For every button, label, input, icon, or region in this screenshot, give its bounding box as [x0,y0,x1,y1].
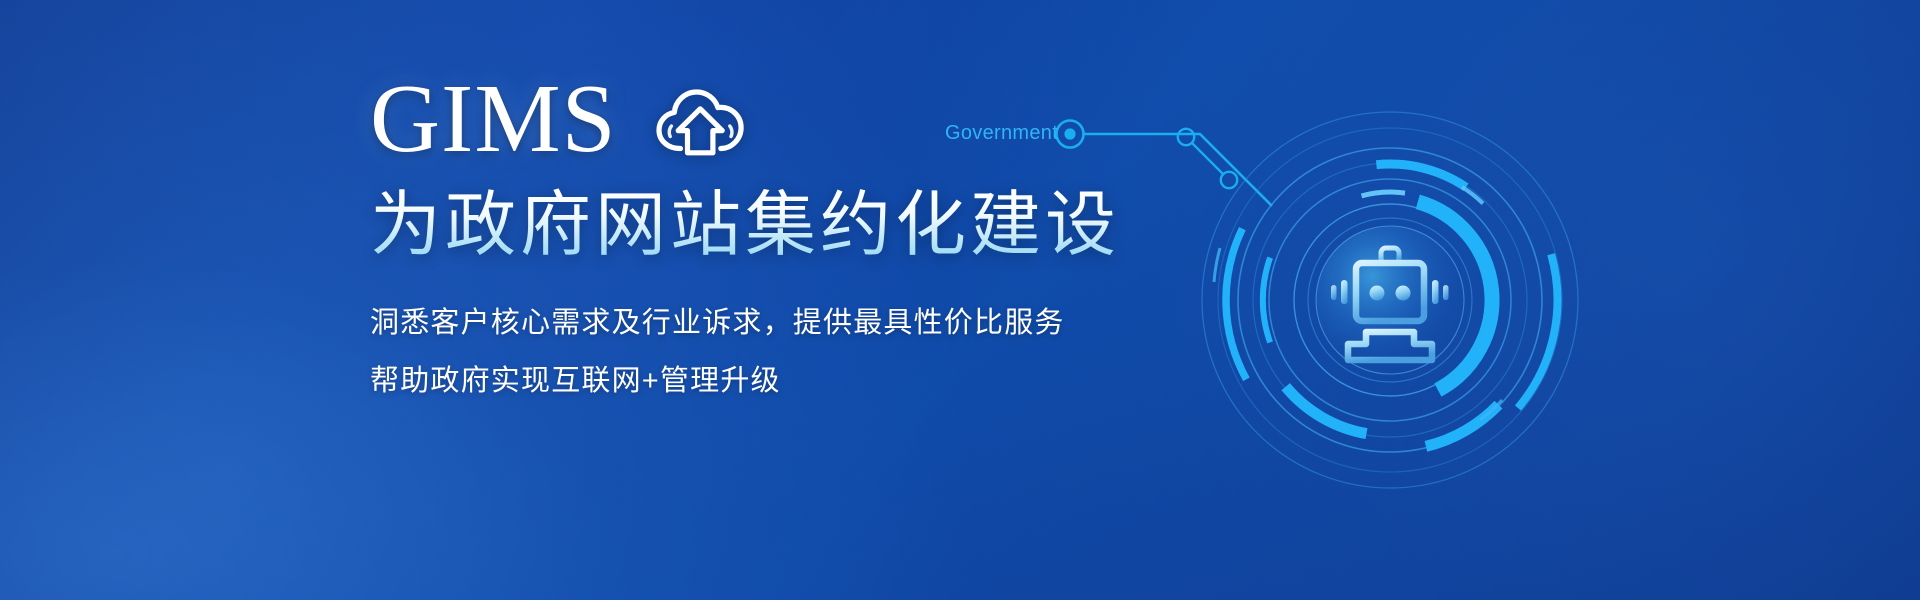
concentric-rings-icon [1202,112,1578,488]
brand-name: GIMS [370,70,617,167]
subtitle-block: 洞悉客户核心需求及行业诉求，提供最具性价比服务 帮助政府实现互联网+管理升级 [370,309,1120,396]
subtitle-line-2: 帮助政府实现互联网+管理升级 [370,367,1120,396]
copy-block: GIMS 为政府网站集约化建设 洞悉客户核心需求及行业诉求，提供最具性价比服务 … [370,66,1120,396]
hero-banner: GIMS 为政府网站集约化建设 洞悉客户核心需求及行业诉求，提供最具性价比服务 … [0,0,1920,600]
brand-row: GIMS [370,66,1120,170]
cloud-upload-icon [653,85,749,164]
headline: 为政府网站集约化建设 [370,188,1120,265]
subtitle-line-1: 洞悉客户核心需求及行业诉求，提供最具性价比服务 [370,309,1120,338]
